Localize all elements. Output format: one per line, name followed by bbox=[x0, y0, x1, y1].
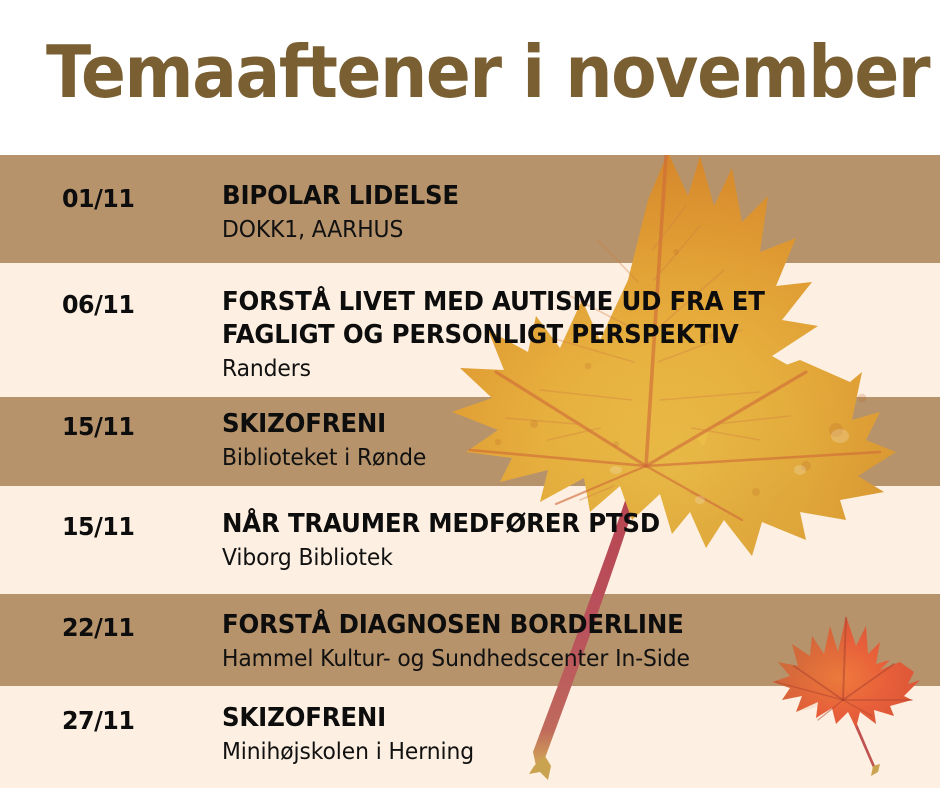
event-venue: DOKK1, AARHUS bbox=[222, 215, 895, 245]
event-body: SKIZOFRENI Biblioteket i Rønde bbox=[222, 408, 930, 473]
event-date: 15/11 bbox=[62, 512, 134, 542]
event-venue: Hammel Kultur- og Sundhedscenter In-Side bbox=[222, 644, 895, 674]
event-body: FORSTÅ DIAGNOSEN BORDERLINE Hammel Kultu… bbox=[222, 609, 930, 674]
event-date: 01/11 bbox=[62, 184, 134, 214]
poster-canvas: Temaaftener i november 01/11 BIPOLAR LID… bbox=[0, 0, 940, 788]
event-title: FORSTÅ LIVET MED AUTISME UD FRA ET FAGLI… bbox=[222, 286, 824, 352]
event-row[interactable]: 15/11 NÅR TRAUMER MEDFØRER PTSD Viborg B… bbox=[0, 486, 940, 594]
event-title: NÅR TRAUMER MEDFØRER PTSD bbox=[222, 508, 888, 541]
poster-header: Temaaftener i november bbox=[0, 0, 940, 155]
event-body: SKIZOFRENI Minihøjskolen i Herning bbox=[222, 702, 930, 767]
event-title: SKIZOFRENI bbox=[222, 408, 888, 441]
event-date: 27/11 bbox=[62, 706, 134, 736]
event-row[interactable]: 15/11 SKIZOFRENI Biblioteket i Rønde bbox=[0, 397, 940, 486]
event-venue: Minihøjskolen i Herning bbox=[222, 737, 895, 767]
event-body: NÅR TRAUMER MEDFØRER PTSD Viborg Bibliot… bbox=[222, 508, 930, 573]
event-body: FORSTÅ LIVET MED AUTISME UD FRA ET FAGLI… bbox=[222, 286, 930, 384]
event-row[interactable]: 22/11 FORSTÅ DIAGNOSEN BORDERLINE Hammel… bbox=[0, 594, 940, 686]
event-body: BIPOLAR LIDELSE DOKK1, AARHUS bbox=[222, 180, 930, 245]
event-row[interactable]: 01/11 BIPOLAR LIDELSE DOKK1, AARHUS bbox=[0, 155, 940, 263]
event-date: 22/11 bbox=[62, 613, 134, 643]
event-date: 06/11 bbox=[62, 290, 134, 320]
page-title: Temaaftener i november bbox=[46, 26, 929, 118]
event-row[interactable]: 27/11 SKIZOFRENI Minihøjskolen i Herning bbox=[0, 686, 940, 788]
event-title: BIPOLAR LIDELSE bbox=[222, 180, 888, 213]
event-venue: Biblioteket i Rønde bbox=[222, 443, 895, 473]
event-title: FORSTÅ DIAGNOSEN BORDERLINE bbox=[222, 609, 888, 642]
event-title: SKIZOFRENI bbox=[222, 702, 888, 735]
event-date: 15/11 bbox=[62, 412, 134, 442]
event-venue: Randers bbox=[222, 354, 895, 384]
event-venue: Viborg Bibliotek bbox=[222, 543, 895, 573]
event-row[interactable]: 06/11 FORSTÅ LIVET MED AUTISME UD FRA ET… bbox=[0, 263, 940, 397]
